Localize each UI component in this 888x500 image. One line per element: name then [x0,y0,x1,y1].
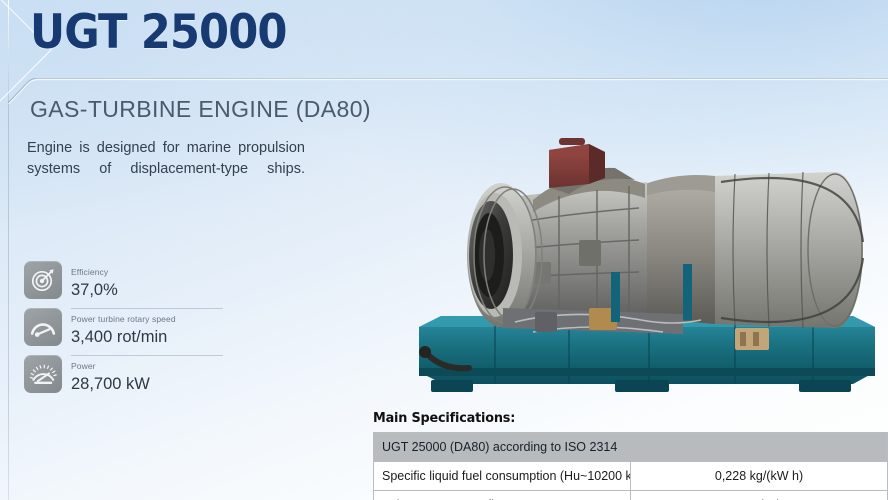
specs-table: UGT 25000 (DA80) according to ISO 2314 S… [373,432,888,500]
stat-row-rotary-speed: Power turbine rotary speed 3,400 rot/min [24,305,229,352]
specs-heading: Main Specifications: [373,410,862,426]
main-specifications: Main Specifications: UGT 25000 (DA80) ac… [373,410,888,500]
stat-row-power: Power 28,700 kW [24,352,229,399]
gauge-icon [24,308,62,346]
left-frame-line [8,0,9,500]
page-subtitle: GAS-TURBINE ENGINE (DA80) [30,96,371,123]
specs-header-label: UGT 25000 (DA80) according to ISO 2314 [374,433,888,462]
spec-name: Exhaust gas mass flow [374,491,631,500]
stat-value: 28,700 kW [71,375,229,395]
gas-turbine-engine-photo [383,122,888,410]
stat-value: 37,0% [71,281,229,301]
stat-label: Power [71,361,96,371]
spec-name: Specific liquid fuel consumption (Hu~102… [374,462,631,491]
table-row: Exhaust gas mass flow 94,0 kg/s [374,491,888,500]
stat-row-efficiency: Efficiency 37,0% [24,258,229,305]
slide-root: UGT 25000 GAS-TURBINE ENGINE (DA80) Engi… [0,0,888,500]
stat-label: Power turbine rotary speed [71,314,176,324]
spec-value: 94,0 kg/s [631,491,888,500]
spec-value: 0,228 kg/(kW h) [631,462,888,491]
stat-text-rotary-speed: Power turbine rotary speed 3,400 rot/min [71,308,229,348]
table-row: Specific liquid fuel consumption (Hu~102… [374,462,888,491]
key-stats-panel: Efficiency 37,0% Power turbine rotary sp… [24,258,229,398]
description-text: Engine is designed for marine propulsion… [27,138,305,200]
stat-text-efficiency: Efficiency 37,0% [71,261,229,301]
stat-value: 3,400 rot/min [71,328,229,348]
stat-label: Efficiency [71,267,108,277]
power-meter-icon [24,355,62,393]
table-row-header: UGT 25000 (DA80) according to ISO 2314 [374,433,888,462]
stat-text-power: Power 28,700 kW [71,355,229,395]
target-icon [24,261,62,299]
page-title: UGT 25000 [30,9,287,56]
